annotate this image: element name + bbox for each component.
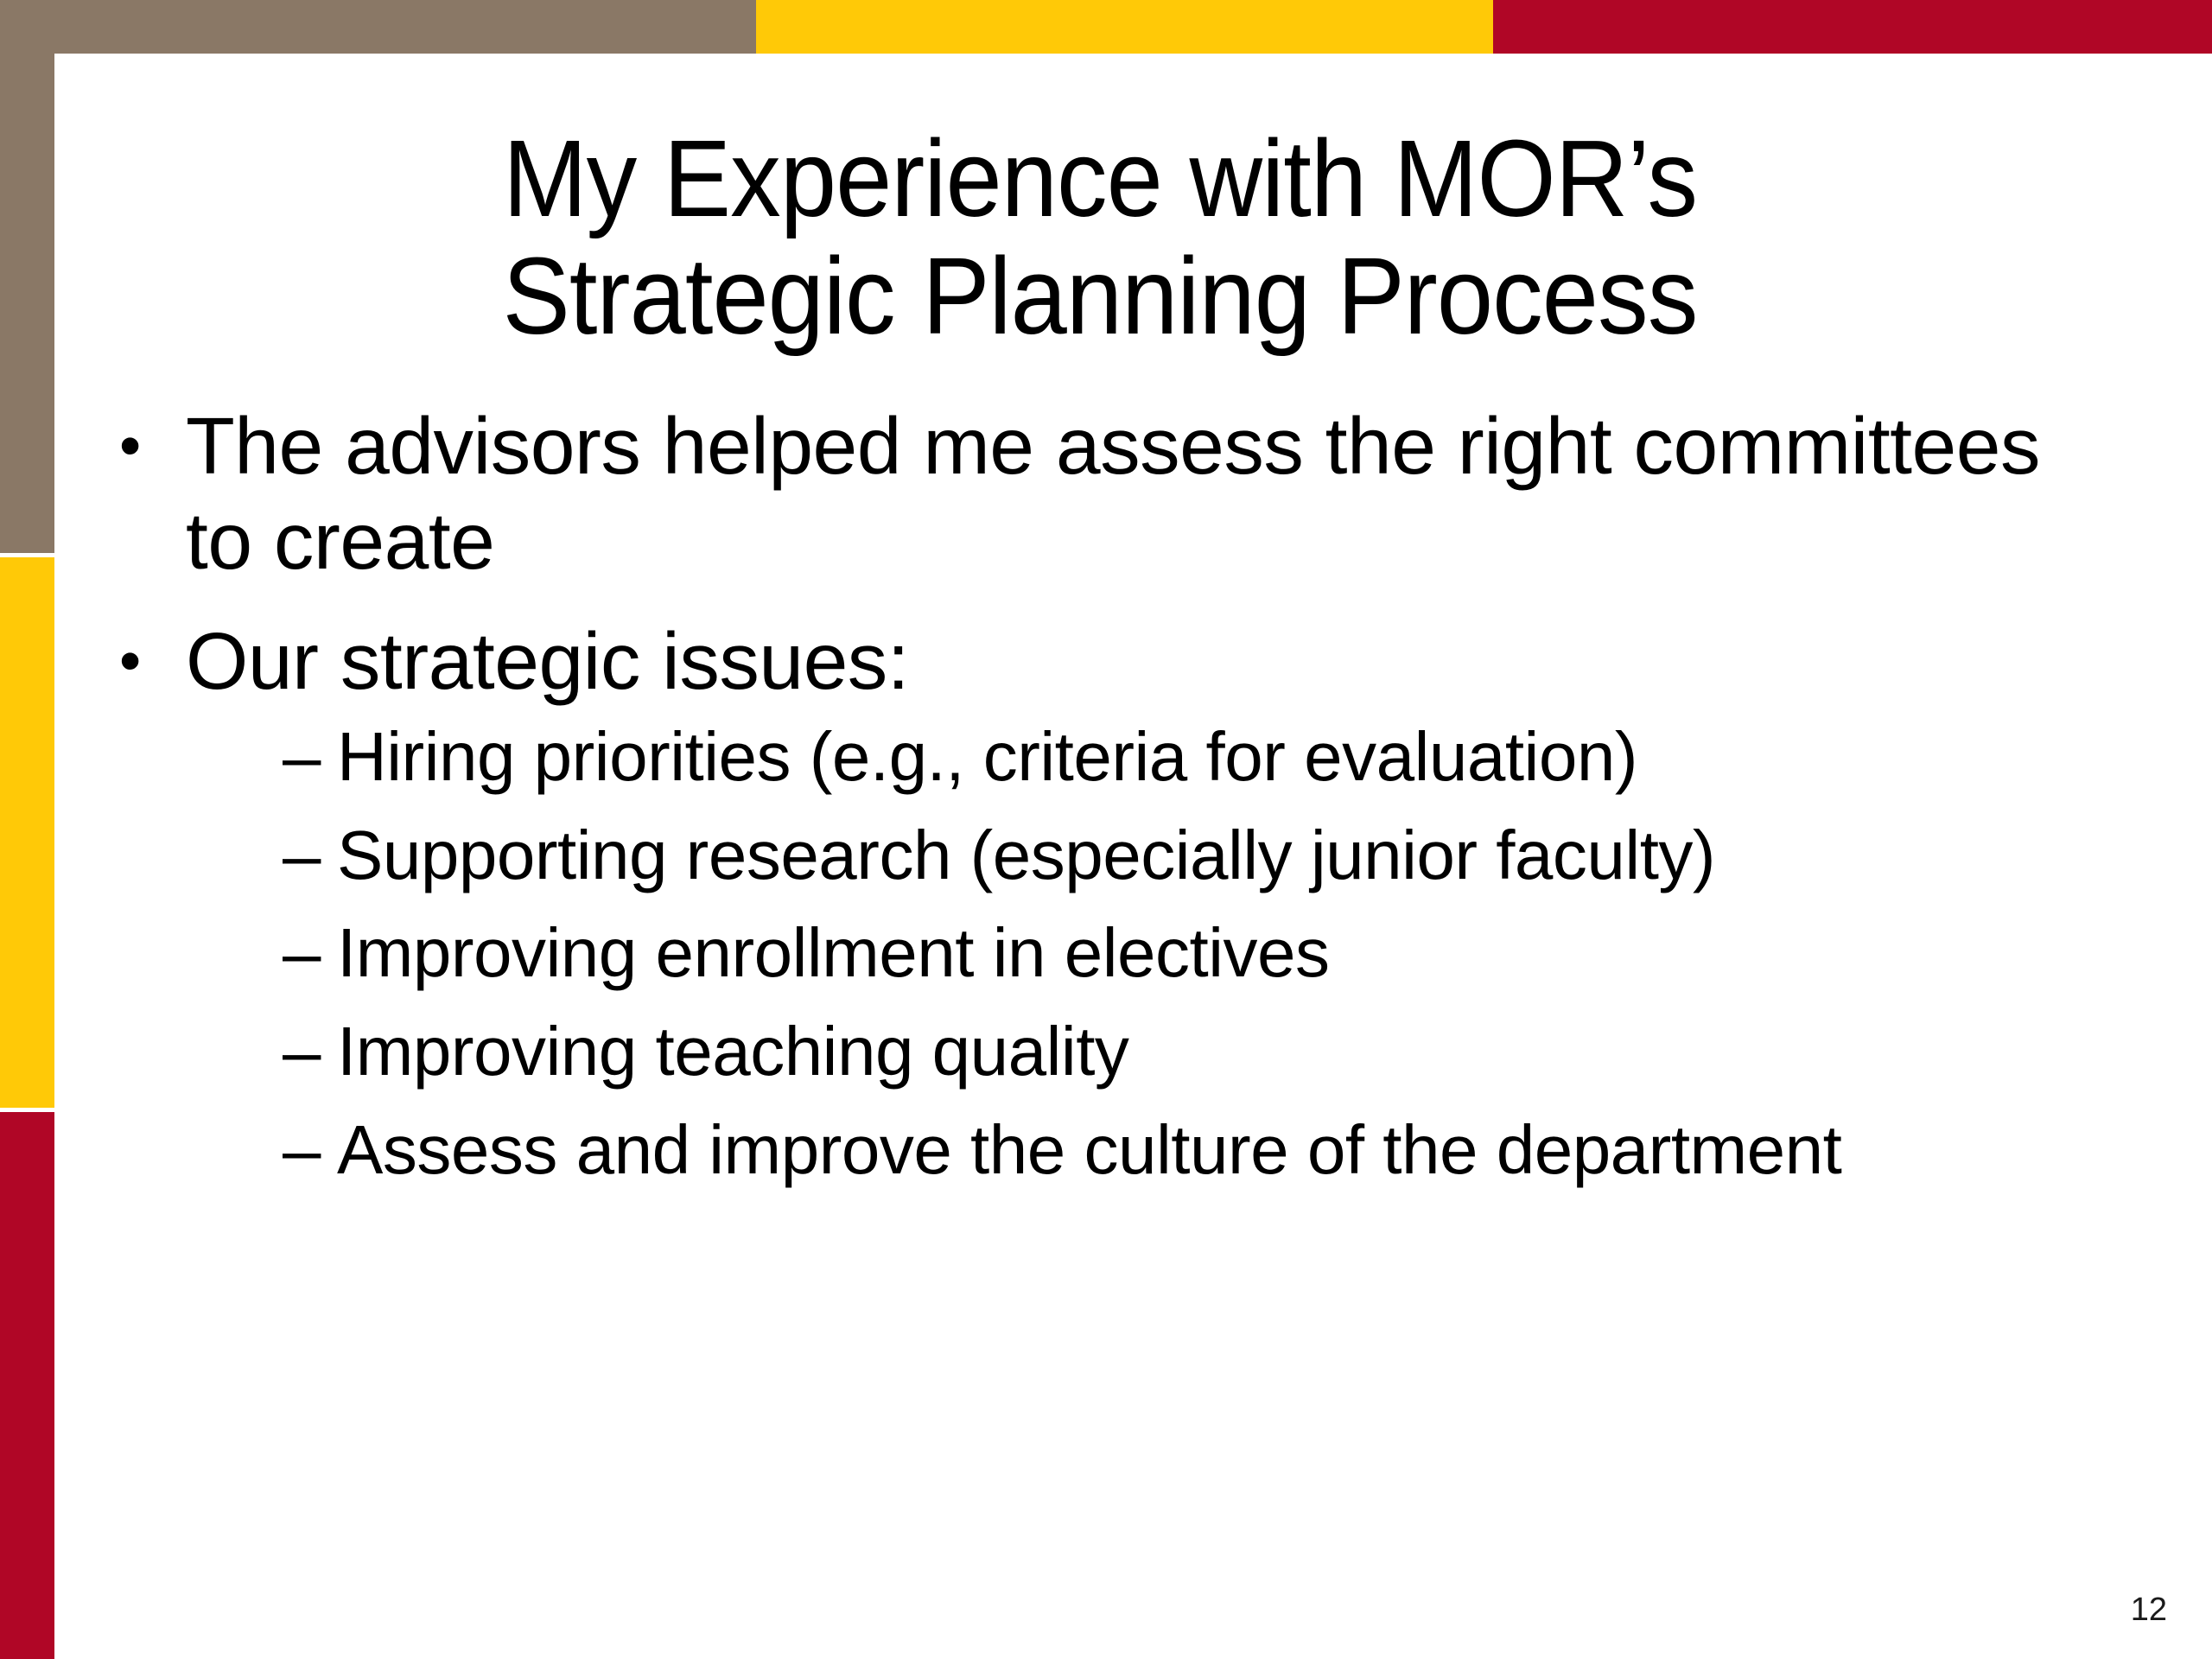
sub-list: – Hiring priorities (e.g., criteria for … [186, 716, 2069, 1190]
list-item-label: Improving enrollment in electives [337, 914, 1329, 991]
bullet-marker-icon: • [119, 614, 141, 708]
list-item: – Improving enrollment in electives [186, 912, 2069, 994]
page-number: 12 [2131, 1593, 2167, 1626]
list-item: – Improving teaching quality [186, 1011, 2069, 1092]
top-accent-bar-taupe [0, 0, 756, 54]
slide-title-line-2: Strategic Planning Process [128, 238, 2073, 355]
list-item-label: Our strategic issues: [186, 616, 909, 706]
bullet-marker-icon: • [119, 399, 141, 493]
top-accent-bar-crimson [1493, 0, 2212, 54]
list-item-label: Improving teaching quality [337, 1013, 1128, 1090]
slide-body: • The advisors helped me assess the righ… [86, 399, 2160, 1216]
list-item-label: Hiring priorities (e.g., criteria for ev… [337, 718, 1637, 795]
list-item: – Assess and improve the culture of the … [186, 1109, 2069, 1191]
dash-marker-icon: – [283, 1011, 321, 1092]
dash-marker-icon: – [283, 716, 321, 798]
list-item: • Our strategic issues: – Hiring priorit… [86, 614, 2069, 1190]
side-accent-bar-taupe [0, 0, 54, 553]
dash-marker-icon: – [283, 1109, 321, 1191]
slide-title: My Experience with MOR’s Strategic Plann… [128, 120, 2073, 355]
slide-canvas: My Experience with MOR’s Strategic Plann… [0, 0, 2212, 1659]
list-item: – Hiring priorities (e.g., criteria for … [186, 716, 2069, 798]
list-item: • The advisors helped me assess the righ… [86, 399, 2069, 588]
dash-marker-icon: – [283, 815, 321, 896]
list-item-label: Supporting research (especially junior f… [337, 817, 1715, 893]
list-item-label: The advisors helped me assess the right … [186, 401, 2040, 586]
list-item: – Supporting research (especially junior… [186, 815, 2069, 896]
dash-marker-icon: – [283, 912, 321, 994]
top-accent-bar-gold [756, 0, 1493, 54]
slide-title-line-1: My Experience with MOR’s [128, 120, 2073, 238]
side-accent-bar-crimson [0, 1112, 54, 1659]
side-accent-bar-gold [0, 557, 54, 1108]
list-item-label: Assess and improve the culture of the de… [337, 1111, 1841, 1188]
